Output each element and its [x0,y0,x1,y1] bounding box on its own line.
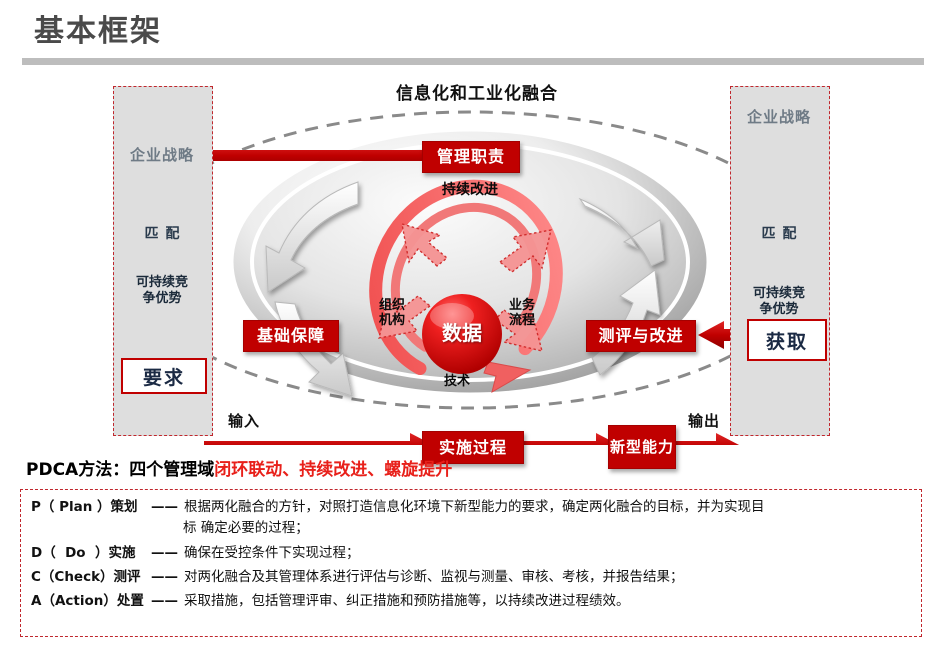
organization-line1: 组织 [379,298,405,313]
new-capability-line1: 新型 [610,439,642,455]
pdca-plan-desc: 根据两化融合的方针，对照打造信息化环境下新型能力的要求，确定两化融合的目标，并为… [184,498,911,517]
new-capability-line2: 能力 [642,439,674,455]
input-label: 输入 [228,410,260,431]
arrow-implementation-to-capability [522,433,622,445]
data-center-label: 数据 [429,317,495,346]
pdca-action-desc: 采取措施，包括管理评审、纠正措施和预防措施等，以持续改进过程绩效。 [184,592,911,611]
business-line2: 流程 [509,313,535,328]
pdca-check-desc: 对两化融合及其管理体系进行评估与诊断、监视与测量、审核、考核，并报告结果； [184,568,911,587]
pdca-item-do: D（ Do ）实施 —— 确保在受控条件下实现过程； [31,544,911,563]
right-strategy-panel [730,86,830,436]
pdca-item-check: C（Check）测评 —— 对两化融合及其管理体系进行评估与诊断、监视与测量、审… [31,568,911,587]
requirement-box[interactable]: 要求 [121,358,207,394]
pdca-item-plan: P（ Plan ）策划 —— 根据两化融合的方针，对照打造信息化环境下新型能力的… [31,498,911,517]
pdca-plan-dash: —— [151,498,184,517]
right-match-label: 匹配 [724,223,834,243]
organization-line2: 机构 [379,313,405,328]
pdca-action-key: A（Action）处置 [31,592,151,611]
pdca-heading-red: 闭环联动、持续改进、螺旋提升 [214,460,452,480]
pdca-detail-box: P（ Plan ）策划 —— 根据两化融合的方针，对照打造信息化环境下新型能力的… [20,489,922,637]
technology-label: 技术 [435,370,479,389]
page-title: 基本框架 [34,12,162,52]
left-advantage-line1: 可持续竞 [107,275,217,290]
right-advantage-line2: 争优势 [724,302,834,317]
output-label: 输出 [688,410,720,431]
right-advantage-line1: 可持续竞 [724,286,834,301]
evaluation-improvement-box[interactable]: 测评与改进 [586,320,696,352]
pdca-item-action: A（Action）处置 —— 采取措施，包括管理评审、纠正措施和预防措施等，以持… [31,592,911,611]
pdca-plan-continuation: 标 确定必要的过程； [183,519,911,538]
left-enterprise-strategy-label: 企业战略 [107,144,217,165]
pdca-do-desc: 确保在受控条件下实现过程； [184,544,911,563]
framework-diagram: 信息化和工业化融合 企业战略 匹配 可持续竞 争优势 要求 企业战略 匹配 可持… [0,70,944,445]
new-capability-box[interactable]: 新型 能力 [608,425,676,469]
pdca-do-dash: —— [151,544,184,563]
title-divider [22,58,924,65]
organization-label: 组织 机构 [370,298,414,328]
pdca-heading-black: PDCA方法：四个管理域 [26,460,214,480]
arrow-requirement-to-implementation [204,433,436,445]
diagram-title: 信息化和工业化融合 [372,79,582,104]
pdca-list: P（ Plan ）策划 —— 根据两化融合的方针，对照打造信息化环境下新型能力的… [31,498,911,616]
business-line1: 业务 [509,298,535,313]
right-enterprise-strategy-label: 企业战略 [724,106,834,127]
pdca-check-dash: —— [151,568,184,587]
left-match-label: 匹配 [107,223,217,243]
pdca-do-key: D（ Do ）实施 [31,544,151,563]
base-guarantee-box[interactable]: 基础保障 [243,320,339,352]
left-advantage-line2: 争优势 [107,291,217,306]
continuous-improvement-label: 持续改进 [410,179,530,199]
pdca-action-dash: —— [151,592,184,611]
management-responsibility-box[interactable]: 管理职责 [422,141,520,173]
slide-canvas: 基本框架 [0,0,944,657]
acquire-box[interactable]: 获取 [747,319,827,361]
business-process-label: 业务 流程 [500,298,544,328]
pdca-plan-key: P（ Plan ）策划 [31,498,151,517]
pdca-heading: PDCA方法：四个管理域闭环联动、持续改进、螺旋提升 [26,455,452,480]
pdca-check-key: C（Check）测评 [31,568,151,587]
